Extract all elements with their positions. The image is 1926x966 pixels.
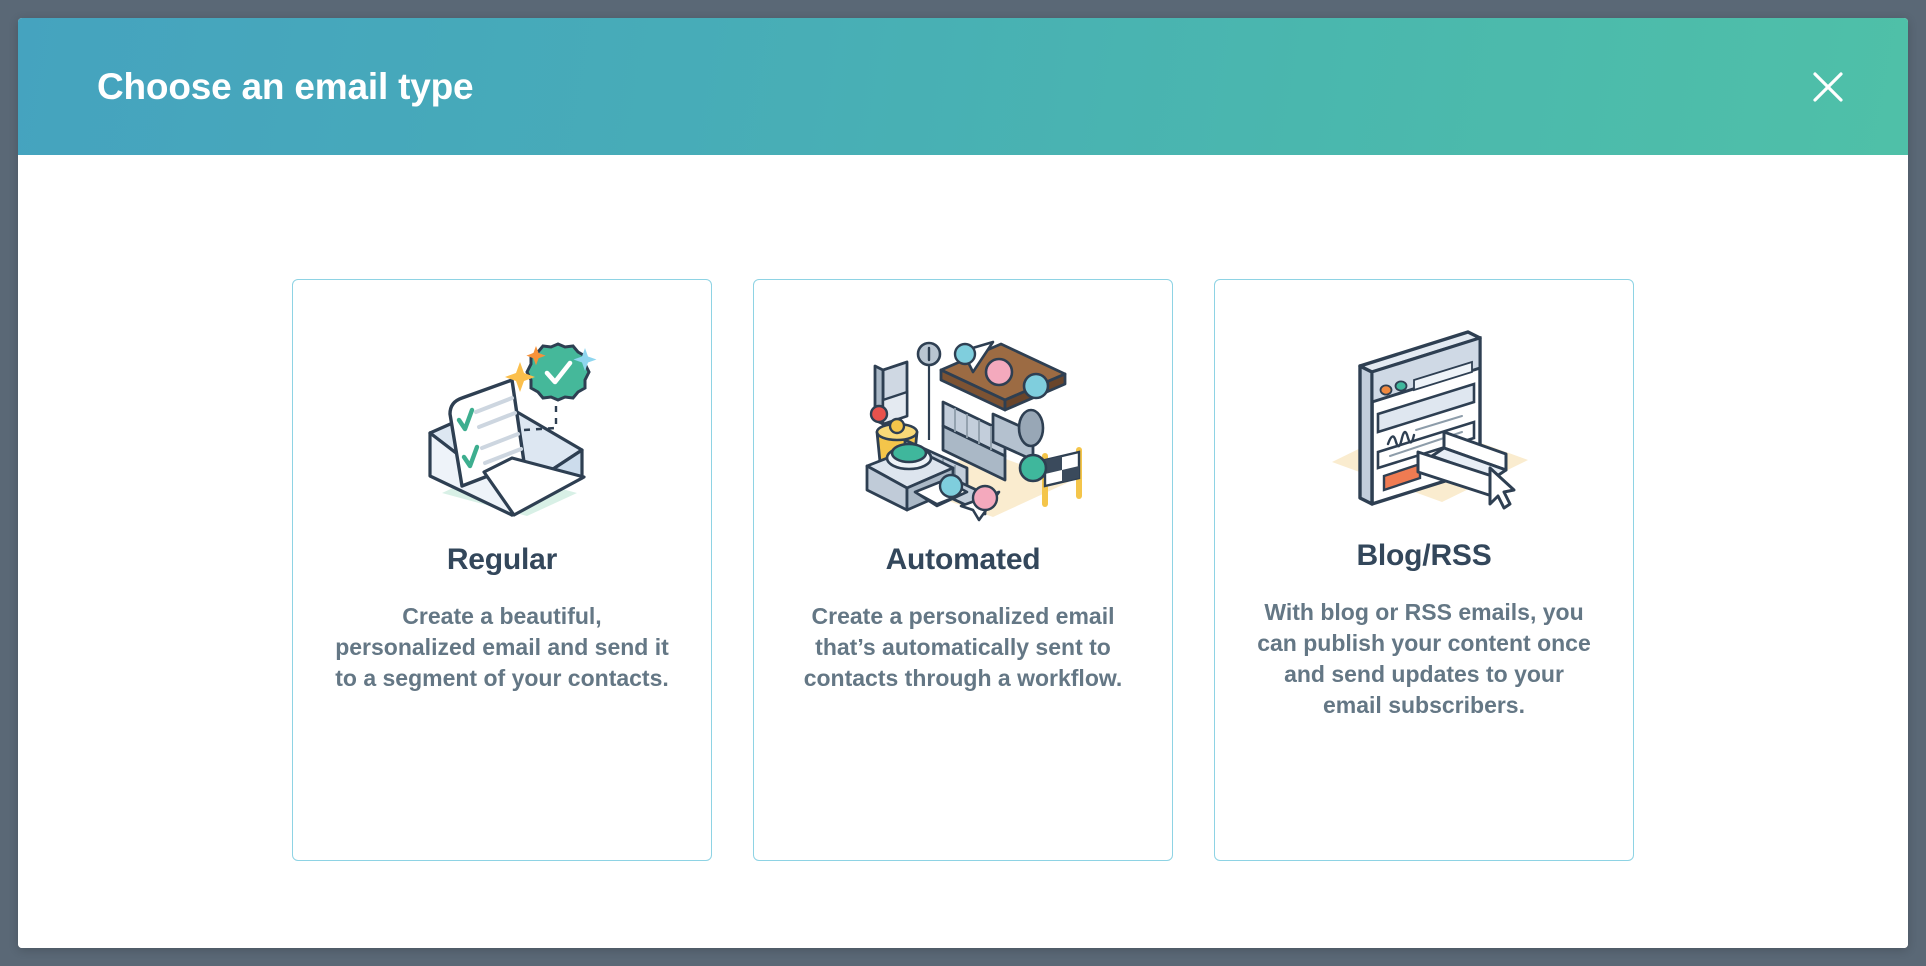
email-type-card-row: Regular Create a beautiful, personalized… <box>18 279 1908 861</box>
email-type-card-blog-rss[interactable]: Blog/RSS With blog or RSS emails, you ca… <box>1214 279 1634 861</box>
dialog-header: Choose an email type <box>18 18 1908 155</box>
dialog-title: Choose an email type <box>97 68 473 105</box>
card-description: Create a personalized email that’s autom… <box>793 601 1133 694</box>
envelope-checklist-illustration <box>372 310 632 525</box>
close-icon <box>1811 70 1845 104</box>
workflow-machine-illustration <box>833 310 1093 525</box>
email-type-card-regular[interactable]: Regular Create a beautiful, personalized… <box>292 279 712 861</box>
card-title: Automated <box>886 543 1041 577</box>
browser-blog-post-illustration <box>1294 310 1554 525</box>
card-description: Create a beautiful, personalized email a… <box>332 601 672 694</box>
close-button[interactable] <box>1805 64 1851 110</box>
choose-email-type-dialog: Choose an email type <box>18 18 1908 948</box>
card-description: With blog or RSS emails, you can publish… <box>1254 597 1594 721</box>
card-title: Regular <box>447 543 557 577</box>
card-title: Blog/RSS <box>1356 539 1491 573</box>
dialog-body: Regular Create a beautiful, personalized… <box>18 155 1908 948</box>
email-type-card-automated[interactable]: Automated Create a personalized email th… <box>753 279 1173 861</box>
